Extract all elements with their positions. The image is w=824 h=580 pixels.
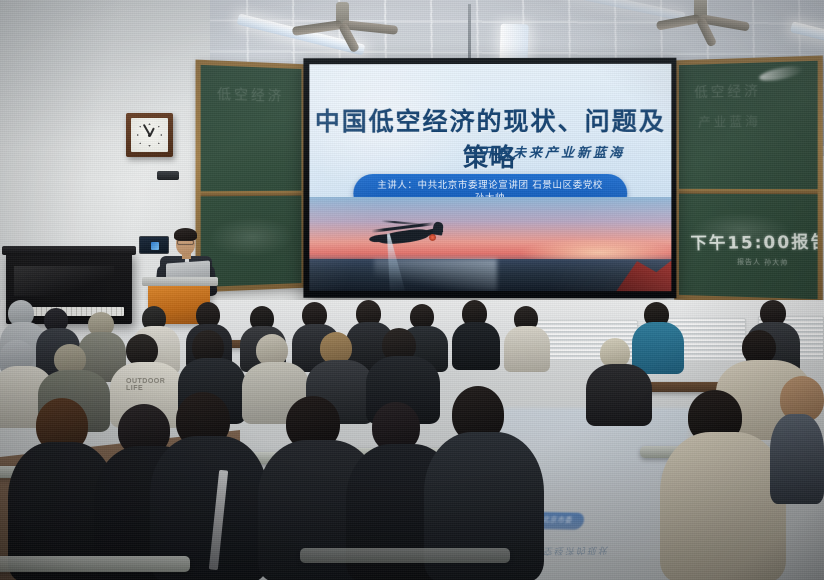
blackboard-divider	[679, 189, 818, 194]
wall-clock	[126, 113, 173, 157]
blackboard-right-faint-text: 低空经济	[694, 81, 761, 102]
blackboard-announcement-subtext: 报告人 孙大帅	[737, 257, 788, 268]
blackboard-left: 低空经济	[196, 60, 307, 293]
blackboard-right-faint-text-2: 产业蓝海	[698, 111, 761, 131]
blackboard-right-surface: 低空经济 产业蓝海 下午15:00报告 报告人 孙大帅	[679, 61, 818, 299]
piano-lid	[2, 246, 136, 255]
presenter-glasses-icon	[177, 240, 194, 245]
projector-mount-pole	[468, 4, 471, 64]
audience-beige-coat	[660, 432, 786, 580]
wall-mounted-speaker	[157, 171, 179, 180]
blackboard-left-surface: 低空经济	[201, 65, 302, 287]
blackboard-right: 低空经济 产业蓝海 下午15:00报告 报告人 孙大帅	[674, 56, 823, 305]
audience-head	[742, 330, 776, 364]
slide-title: 中国低空经济的现状、问题及策略	[309, 102, 671, 174]
blackboard-glare	[758, 64, 804, 84]
lecture-hall-photo: 低空经济 低空经济 产业蓝海 下午15:00报告 报告人 孙大帅 中国低空经济的…	[0, 0, 824, 580]
jacket-logo-text: OUTDOOR LIFE	[126, 378, 165, 392]
helicopter-icon	[367, 219, 445, 249]
blackboard-left-faint-text: 低空经济	[217, 84, 284, 106]
helicopter-rotor	[381, 219, 427, 225]
lectern-top-surface	[142, 277, 218, 286]
wall-monitor	[139, 236, 169, 254]
bench-rail	[300, 548, 510, 563]
presentation-slide: 中国低空经济的现状、问题及策略 —开启未来产业新蓝海 主讲人：中共北京市委理论宣…	[309, 64, 671, 291]
slide-speaker-affiliation: 主讲人：中共北京市委理论宣讲团 石景山区委党校	[377, 180, 603, 193]
bench-rail	[0, 556, 190, 572]
helicopter-tail-fin	[432, 221, 444, 235]
audience-torso	[770, 414, 824, 504]
slide-subtitle: —开启未来产业新蓝海	[465, 142, 625, 161]
piano-gloss	[14, 266, 114, 296]
clock-face	[131, 118, 168, 152]
clock-center-pin	[148, 134, 151, 137]
audience-teal-jacket	[632, 322, 684, 374]
blackboard-announcement-text: 下午15:00报告	[690, 227, 817, 253]
helicopter-tail-light	[429, 234, 436, 241]
helicopter-nose	[369, 233, 390, 242]
blackboard-divider	[201, 191, 302, 197]
chalk-smudge	[209, 216, 294, 258]
slide-photo-band	[309, 197, 671, 291]
audience-torso	[452, 322, 500, 370]
monitor-logo-icon	[151, 242, 159, 250]
audience-torso	[586, 364, 652, 426]
projection-screen: 中国低空经济的现状、问题及策略 —开启未来产业新蓝海 主讲人：中共北京市委理论宣…	[303, 58, 676, 299]
audience-light-coat	[504, 326, 550, 372]
